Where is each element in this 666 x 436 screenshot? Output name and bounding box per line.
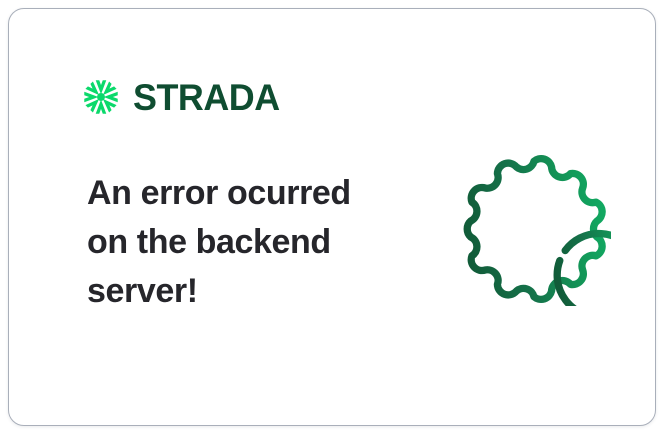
brand-wordmark: STRADA — [133, 79, 280, 116]
error-headline: An error ocurred on the backend server! — [87, 169, 387, 316]
brand-logo: STRADA — [79, 75, 284, 119]
strada-asterisk-icon — [79, 75, 123, 119]
error-card: STRADA An error ocurred on the backend s… — [8, 8, 656, 426]
gear-cog-icon — [457, 152, 611, 306]
